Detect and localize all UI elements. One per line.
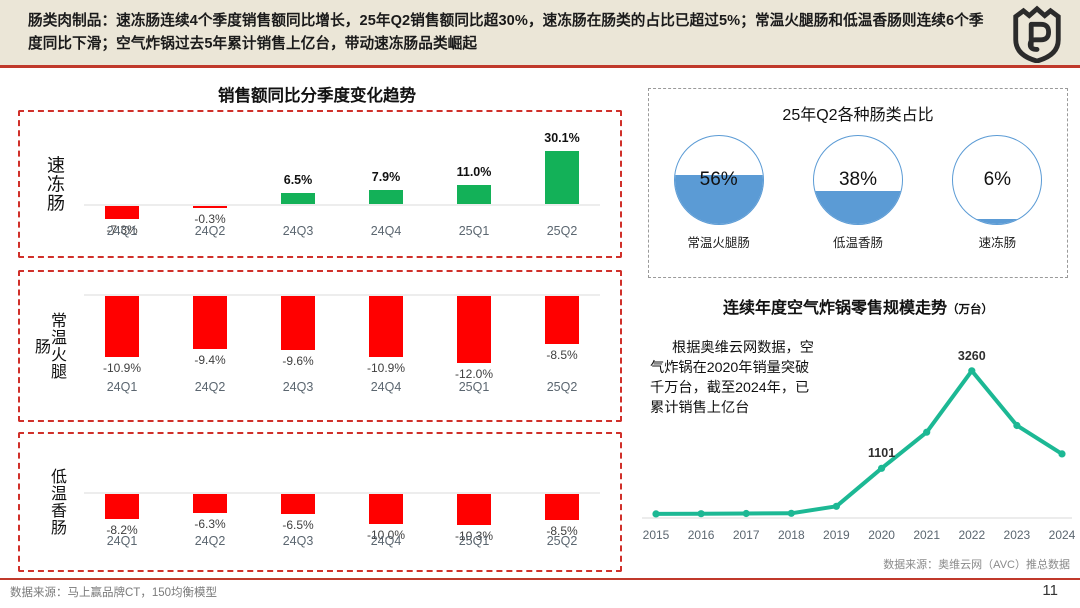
bar	[105, 494, 139, 519]
bar-column: 30.1%25Q2	[518, 112, 606, 256]
bar-plot-area: -7.3%24Q1-0.3%24Q26.5%24Q37.9%24Q411.0%2…	[78, 112, 606, 256]
panel-row-label: 低温香肠	[34, 468, 64, 536]
bar	[193, 494, 227, 513]
bar-category-label: 25Q2	[547, 534, 578, 548]
bar-category-label: 24Q3	[283, 380, 314, 394]
bar-column: -8.2%24Q1	[78, 434, 166, 570]
page-number: 11	[1042, 582, 1058, 599]
bar-column: -10.9%24Q1	[78, 272, 166, 420]
panel-row-label: 速冻肠	[34, 156, 64, 213]
share-circle-percent: 56%	[675, 169, 763, 191]
share-panel: 25年Q2各种肠类占比 56%常温火腿肠38%低温香肠6%速冻肠	[648, 88, 1068, 278]
bar-category-label: 24Q2	[195, 224, 226, 238]
line-data-point	[878, 465, 885, 472]
line-data-point	[1058, 450, 1065, 457]
bar-category-label: 25Q1	[459, 534, 490, 548]
line-chart-area: 2015201620172018201920201101202120223260…	[642, 322, 1072, 554]
share-circle-list: 56%常温火腿肠38%低温香肠6%速冻肠	[649, 135, 1067, 275]
bar	[369, 296, 403, 357]
bar-category-label: 24Q2	[195, 534, 226, 548]
share-circle-percent: 38%	[814, 169, 902, 191]
bar-value-label: 11.0%	[457, 165, 492, 179]
bar-columns: -7.3%24Q1-0.3%24Q26.5%24Q37.9%24Q411.0%2…	[78, 112, 606, 256]
left-chart-title: 销售额同比分季度变化趋势	[0, 82, 634, 106]
line-data-point	[652, 510, 659, 517]
bar-category-label: 24Q1	[107, 224, 138, 238]
bar-columns: -8.2%24Q1-6.3%24Q2-6.5%24Q3-10.0%24Q4-10…	[78, 434, 606, 570]
bar-column: 7.9%24Q4	[342, 112, 430, 256]
bar-category-label: 24Q2	[195, 380, 226, 394]
bar	[457, 296, 491, 363]
line-data-point	[788, 510, 795, 517]
bar-category-label: 24Q1	[107, 534, 138, 548]
bar-column: -10.9%24Q4	[342, 272, 430, 420]
bar	[281, 296, 315, 350]
bar-panel-sudongchang: 速冻肠 -7.3%24Q1-0.3%24Q26.5%24Q37.9%24Q411…	[18, 110, 622, 258]
bar-category-label: 24Q4	[371, 380, 402, 394]
footer-source: 数据来源：马上赢品牌CT，150均衡模型	[10, 584, 217, 600]
bar-category-label: 24Q1	[107, 380, 138, 394]
share-circle-item: 6%速冻肠	[928, 135, 1067, 275]
line-x-tick-label: 2017	[733, 528, 760, 542]
bar-category-label: 24Q4	[371, 534, 402, 548]
share-circle-caption: 常温火腿肠	[687, 232, 750, 251]
panel-row-label: 常温火腿肠	[34, 309, 64, 383]
share-panel-title: 25年Q2各种肠类占比	[649, 101, 1067, 125]
bar-column: -9.4%24Q2	[166, 272, 254, 420]
line-x-tick-label: 2021	[913, 528, 940, 542]
bar-value-label: -9.4%	[194, 353, 225, 367]
line-x-tick-label: 2023	[1004, 528, 1031, 542]
share-circle: 38%	[813, 135, 903, 225]
share-circle-fill	[814, 191, 902, 224]
line-x-tick-label: 2024	[1049, 528, 1076, 542]
bar-column: -12.0%25Q1	[430, 272, 518, 420]
bar	[369, 190, 403, 204]
shield-crown-logo-icon	[1008, 5, 1066, 63]
line-x-tick-label: 2019	[823, 528, 850, 542]
bar	[545, 296, 579, 344]
bar	[193, 206, 227, 208]
line-x-tick-label: 2018	[778, 528, 805, 542]
share-circle: 56%	[674, 135, 764, 225]
line-data-point	[923, 429, 930, 436]
bar-column: -8.5%25Q2	[518, 434, 606, 570]
line-data-points	[652, 367, 1065, 517]
bar-category-label: 25Q2	[547, 224, 578, 238]
header-headline: 肠类肉制品：速冻肠连续4个季度销售额同比增长，25年Q2销售额同比超30%，速冻…	[28, 10, 988, 56]
bar-column: -6.5%24Q3	[254, 434, 342, 570]
bar	[545, 494, 579, 520]
bar-column: -10.0%24Q4	[342, 434, 430, 570]
line-data-point	[1013, 422, 1020, 429]
share-circle-percent: 6%	[953, 169, 1041, 191]
line-series-path	[656, 371, 1062, 514]
bar-column: -10.3%25Q1	[430, 434, 518, 570]
left-column: 销售额同比分季度变化趋势 速冻肠 -7.3%24Q1-0.3%24Q26.5%2…	[0, 70, 634, 570]
bar-plot-area: -8.2%24Q1-6.3%24Q2-6.5%24Q3-10.0%24Q4-10…	[78, 434, 606, 570]
line-data-point	[743, 510, 750, 517]
bar-category-label: 25Q1	[459, 224, 490, 238]
bar-value-label: -6.5%	[282, 518, 313, 532]
bar-column: 11.0%25Q1	[430, 112, 518, 256]
bar-value-label: -10.9%	[103, 361, 141, 375]
bar	[193, 296, 227, 349]
bar-column: -9.6%24Q3	[254, 272, 342, 420]
bar	[105, 296, 139, 357]
bar-category-label: 25Q1	[459, 380, 490, 394]
bar-category-label: 25Q2	[547, 380, 578, 394]
line-chart-svg	[642, 322, 1072, 554]
bar	[369, 494, 403, 524]
bar-value-label: -6.3%	[194, 517, 225, 531]
line-x-tick-label: 2020	[868, 528, 895, 542]
bar-value-label: -10.9%	[367, 361, 405, 375]
bar-value-label: -8.5%	[546, 348, 577, 362]
bar-value-label: 6.5%	[284, 173, 313, 187]
line-point-value-label: 3260	[958, 349, 986, 363]
share-circle-fill	[953, 219, 1041, 224]
line-chart-unit: （万台）	[947, 304, 993, 316]
share-circle: 6%	[952, 135, 1042, 225]
bar	[105, 206, 139, 219]
line-chart-title: 连续年度空气炸锅零售规模走势（万台）	[636, 294, 1080, 318]
bar-column: -8.5%25Q2	[518, 272, 606, 420]
bar	[281, 494, 315, 514]
share-circle-item: 38%低温香肠	[788, 135, 927, 275]
bar-column: 6.5%24Q3	[254, 112, 342, 256]
line-x-tick-label: 2015	[643, 528, 670, 542]
share-circle-item: 56%常温火腿肠	[649, 135, 788, 275]
footer-divider	[0, 578, 1080, 580]
bar-value-label: 7.9%	[372, 170, 401, 184]
line-data-point	[833, 503, 840, 510]
line-data-point	[698, 510, 705, 517]
bar	[281, 193, 315, 204]
bar-plot-area: -10.9%24Q1-9.4%24Q2-9.6%24Q3-10.9%24Q4-1…	[78, 272, 606, 420]
bar	[545, 151, 579, 204]
bar-column: -6.3%24Q2	[166, 434, 254, 570]
bar-category-label: 24Q3	[283, 534, 314, 548]
line-point-value-label: 1101	[868, 446, 895, 460]
bar-value-label: 30.1%	[544, 131, 579, 145]
bar-column: -7.3%24Q1	[78, 112, 166, 256]
share-circle-caption: 低温香肠	[833, 232, 883, 251]
line-x-tick-label: 2016	[688, 528, 715, 542]
line-chart-title-text: 连续年度空气炸锅零售规模走势	[723, 300, 947, 317]
bar-column: -0.3%24Q2	[166, 112, 254, 256]
slide-header: 肠类肉制品：速冻肠连续4个季度销售额同比增长，25年Q2销售额同比超30%，速冻…	[0, 0, 1080, 68]
line-x-tick-label: 2022	[958, 528, 985, 542]
bar	[457, 185, 491, 204]
bar-value-label: -9.6%	[282, 354, 313, 368]
bar-columns: -10.9%24Q1-9.4%24Q2-9.6%24Q3-10.9%24Q4-1…	[78, 272, 606, 420]
line-data-point	[968, 367, 975, 374]
bar-category-label: 24Q3	[283, 224, 314, 238]
bar-category-label: 24Q4	[371, 224, 402, 238]
bar-panel-diwenxiangchang: 低温香肠 -8.2%24Q1-6.3%24Q2-6.5%24Q3-10.0%24…	[18, 432, 622, 572]
right-column: 25年Q2各种肠类占比 56%常温火腿肠38%低温香肠6%速冻肠 连续年度空气炸…	[636, 70, 1080, 570]
slide-root: 肠类肉制品：速冻肠连续4个季度销售额同比增长，25年Q2销售额同比超30%，速冻…	[0, 0, 1080, 608]
bar-panel-changwenhuotuichang: 常温火腿肠 -10.9%24Q1-9.4%24Q2-9.6%24Q3-10.9%…	[18, 270, 622, 422]
share-circle-caption: 速冻肠	[979, 232, 1017, 251]
bar	[457, 494, 491, 525]
line-chart-source: 数据来源：奥维云网（AVC）推总数据	[883, 556, 1070, 572]
